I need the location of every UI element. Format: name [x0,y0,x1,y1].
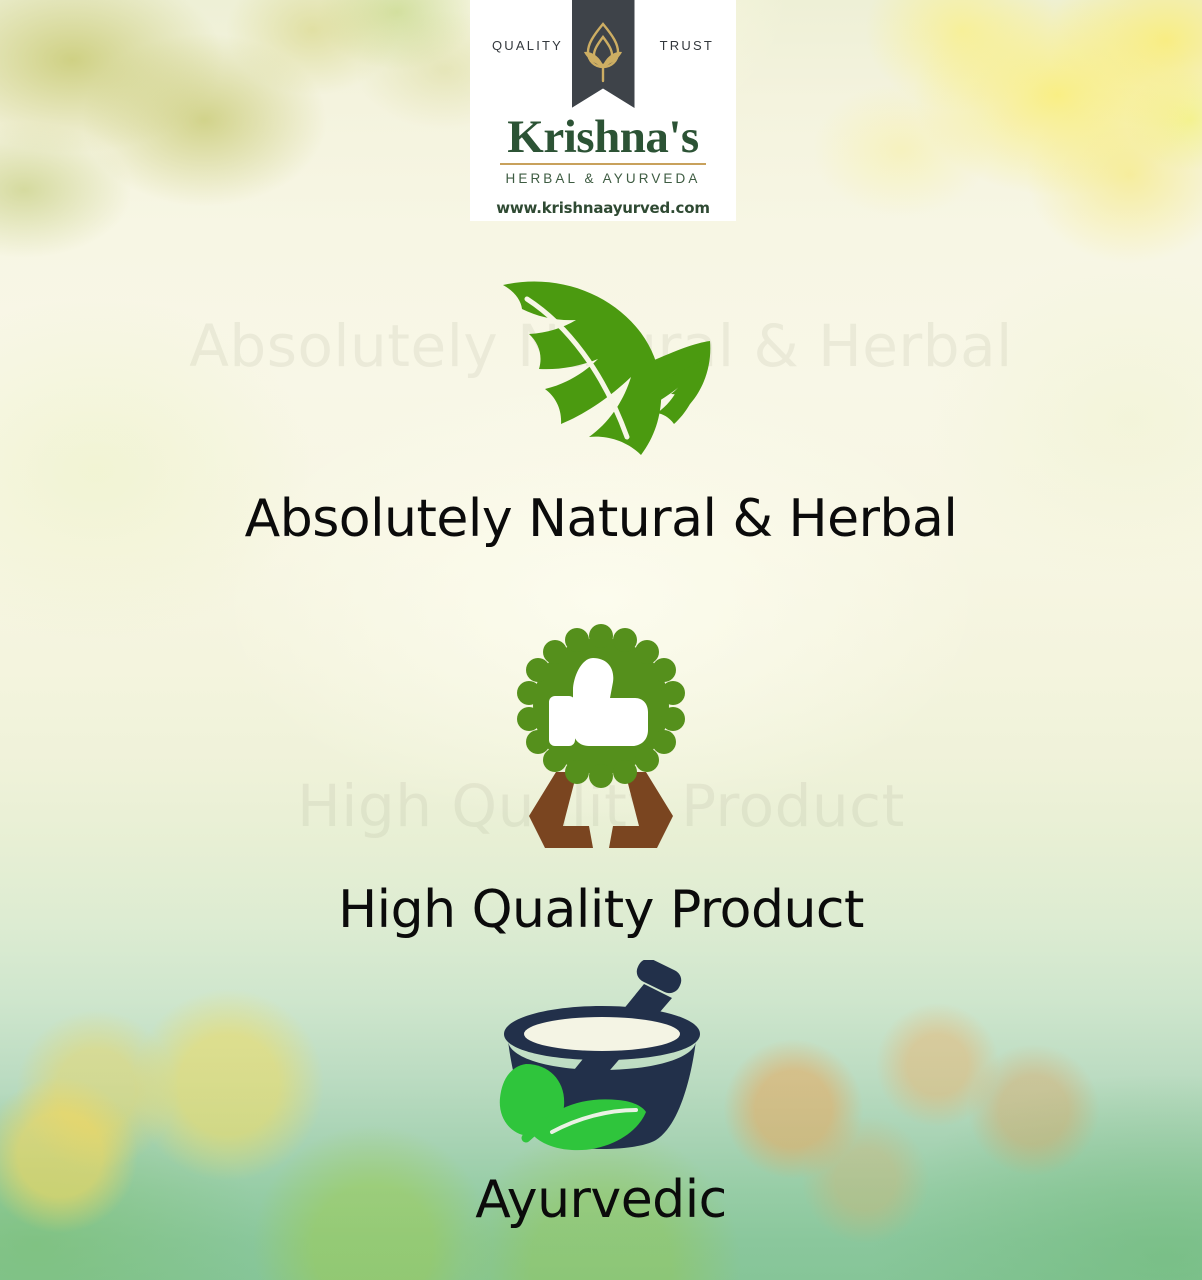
brand-wordmark: Krishna's [507,114,698,161]
thumbs-up-rosette-award-icon [0,620,1202,860]
quality-trust-ribbon [572,0,635,108]
quality-word: QUALITY [492,38,563,53]
feature-ayurvedic: Ayurvedic [0,955,1202,1230]
feature-quality-label: High Quality Product [0,880,1202,940]
brand-logo-card: QUALITY TRUST Krishna's HERBAL & AYURVED… [470,0,736,221]
wordmark-divider [500,163,706,165]
mortar-and-pestle-with-leaves-icon [0,955,1202,1160]
product-feature-poster: Absolutely Natural & Herbal High Quality… [0,0,1202,1280]
feature-ayurvedic-label: Ayurvedic [0,1170,1202,1230]
feature-natural-label: Absolutely Natural & Herbal [0,489,1202,549]
brand-website: www.krishnaayurved.com [496,199,710,217]
feature-quality: High Quality Product [0,620,1202,940]
trust-word: TRUST [660,38,714,53]
gold-leaf-flame-emblem-icon [580,19,626,89]
two-leaves-icon [0,262,1202,467]
brand-tagline: HERBAL & AYURVEDA [505,171,700,186]
feature-natural: Absolutely Natural & Herbal [0,262,1202,549]
